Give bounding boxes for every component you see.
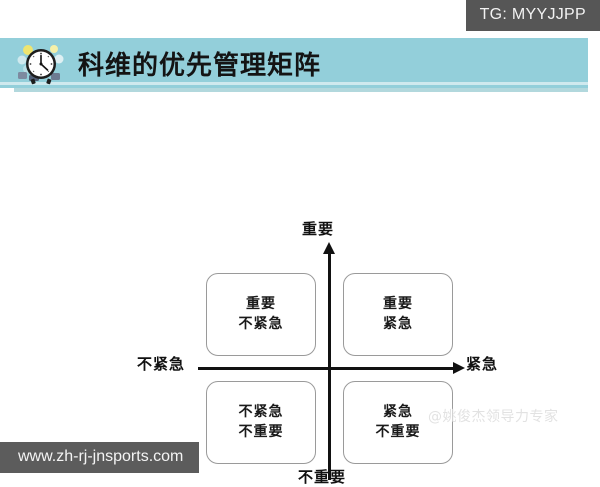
- priority-matrix-diagram: 重要 不紧急 紧急 不重要 重要 不紧急 重要 紧急 不紧急 不重要 紧急 不重…: [0, 100, 600, 410]
- page-title: 科维的优先管理矩阵: [78, 40, 321, 86]
- footer-url: www.zh-rj-jnsports.com: [0, 442, 199, 473]
- quadrant-line-1: 紧急: [383, 404, 413, 422]
- y-axis-arrow-icon: [323, 242, 335, 254]
- axis-label-urgent: 紧急: [466, 353, 498, 374]
- y-axis-line: [328, 252, 331, 480]
- quadrant-important-urgent: 重要 紧急: [343, 273, 453, 356]
- quadrant-not-urgent-not-important: 不紧急 不重要: [206, 381, 316, 464]
- quadrant-line-1: 重要: [246, 296, 276, 314]
- quadrant-line-2: 不重要: [239, 424, 284, 442]
- header-banner-underline-secondary: [14, 88, 588, 92]
- x-axis-line: [198, 367, 456, 370]
- alarm-clock-icon: [14, 41, 66, 87]
- axis-label-not-important: 不重要: [298, 466, 346, 487]
- axis-label-important: 重要: [302, 218, 334, 239]
- watermark: @姚俊杰领导力专家: [428, 406, 559, 426]
- quadrant-important-not-urgent: 重要 不紧急: [206, 273, 316, 356]
- quadrant-line-1: 不紧急: [239, 404, 284, 422]
- quadrant-line-2: 不紧急: [239, 316, 284, 334]
- x-axis-arrow-icon: [453, 362, 465, 374]
- quadrant-line-2: 不重要: [376, 424, 421, 442]
- tg-tag: TG: MYYJJPP: [466, 0, 600, 31]
- quadrant-line-1: 重要: [383, 296, 413, 314]
- axis-label-not-urgent: 不紧急: [137, 353, 185, 374]
- quadrant-line-2: 紧急: [383, 316, 413, 334]
